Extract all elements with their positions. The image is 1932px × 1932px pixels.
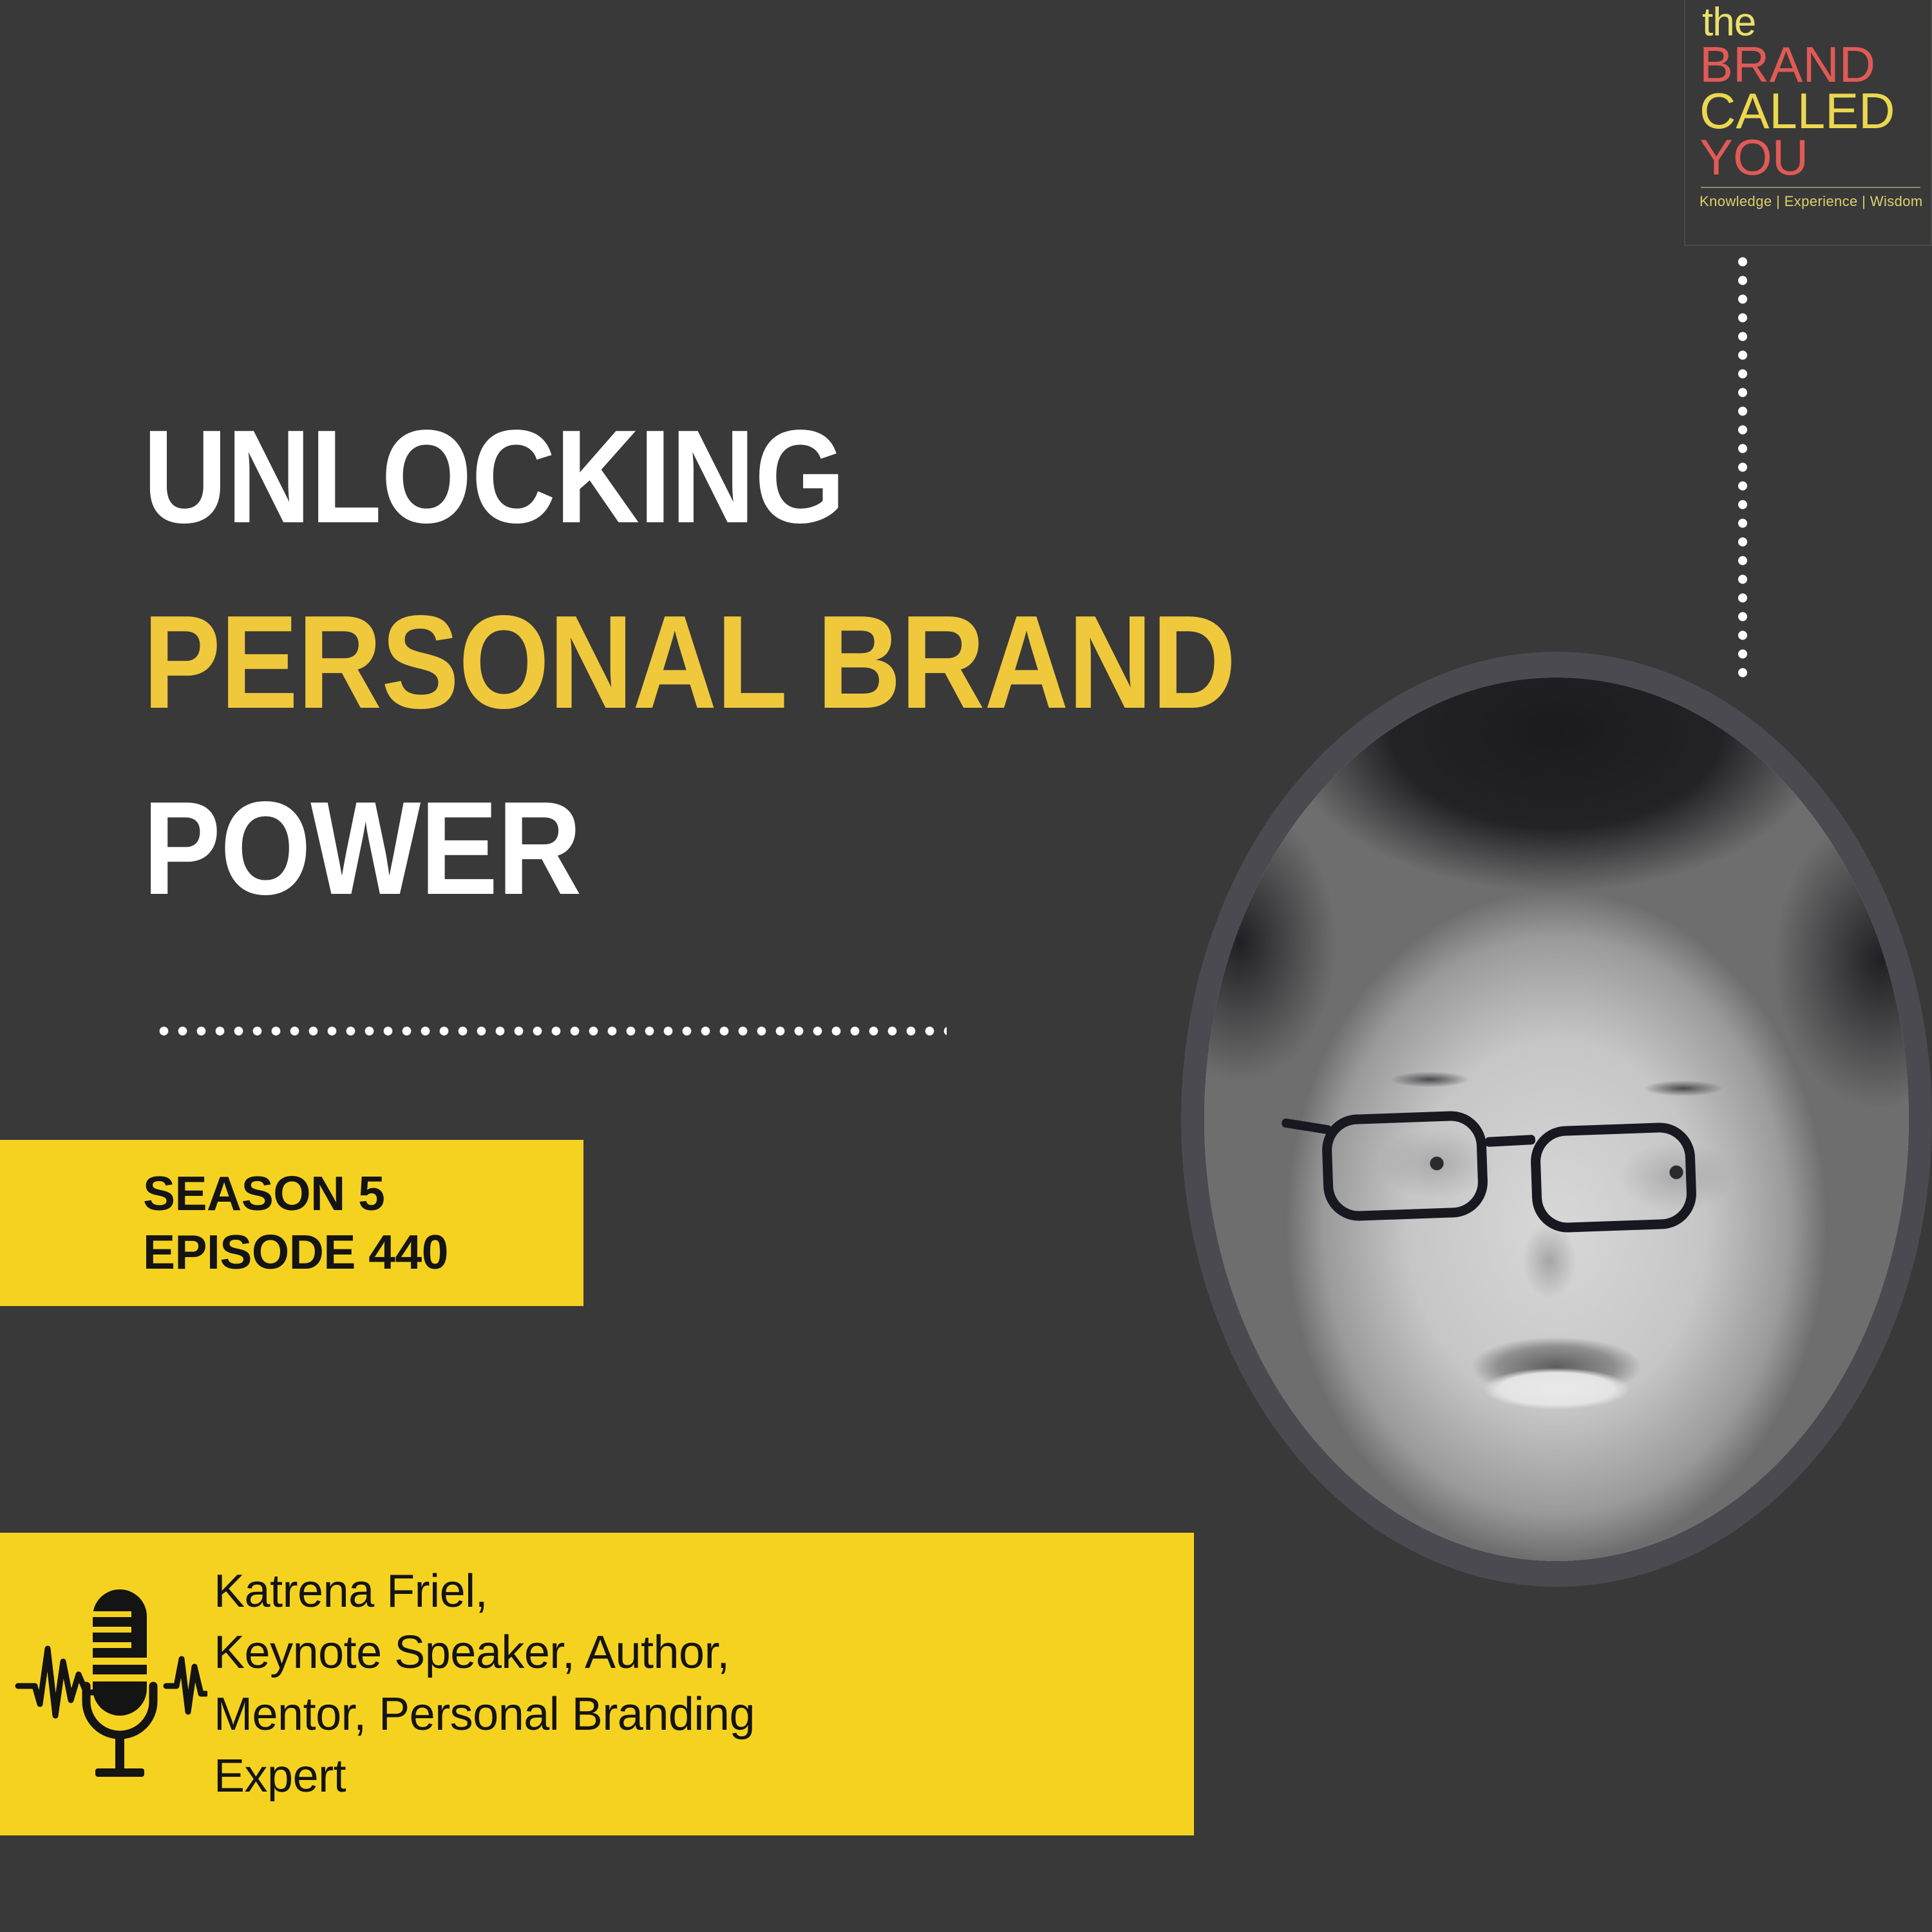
guest-name: Katrena Friel, bbox=[214, 1561, 755, 1623]
logo-word-brand: BRAND bbox=[1700, 42, 1922, 88]
guest-details: Katrena Friel, Keynote Speaker, Author, … bbox=[214, 1561, 755, 1808]
glasses-bridge bbox=[1485, 1135, 1536, 1147]
microphone-waveform-icon bbox=[14, 1578, 207, 1790]
vertical-dotted-line bbox=[1737, 252, 1748, 685]
guest-role-line-3: Expert bbox=[214, 1746, 755, 1808]
episode-label: EPISODE 440 bbox=[143, 1223, 583, 1282]
guest-role-line-1: Keynote Speaker, Author, bbox=[214, 1622, 755, 1684]
title-line-1: UNLOCKING bbox=[143, 384, 1276, 569]
guest-role-line-2: Mentor, Personal Branding bbox=[214, 1684, 755, 1746]
guest-portrait-ring bbox=[1181, 652, 1932, 1587]
season-label: SEASON 5 bbox=[143, 1164, 583, 1224]
brand-logo: the BRAND CALLED YOU Knowledge | Experie… bbox=[1684, 0, 1932, 246]
title-line-3: POWER bbox=[143, 755, 1276, 941]
guest-info-banner: Katrena Friel, Keynote Speaker, Author, … bbox=[0, 1533, 1194, 1835]
lens-left bbox=[1321, 1110, 1489, 1222]
glasses-temple bbox=[1281, 1118, 1332, 1135]
logo-divider-rule bbox=[1701, 187, 1920, 188]
guest-portrait-photo bbox=[1204, 677, 1909, 1561]
lens-right bbox=[1529, 1122, 1698, 1234]
logo-word-the: the bbox=[1702, 4, 1922, 41]
logo-word-called: CALLED bbox=[1700, 88, 1922, 135]
title-line-2: PERSONAL BRAND bbox=[143, 569, 1276, 755]
season-episode-badge: SEASON 5 EPISODE 440 bbox=[0, 1140, 583, 1306]
logo-tagline: Knowledge | Experience | Wisdom bbox=[1700, 193, 1922, 210]
horizontal-dotted-divider bbox=[155, 1025, 947, 1037]
podcast-cover-artwork: the BRAND CALLED YOU Knowledge | Experie… bbox=[0, 0, 1932, 1932]
logo-word-you: YOU bbox=[1700, 135, 1922, 181]
eyeglasses-icon bbox=[1204, 677, 1909, 1561]
